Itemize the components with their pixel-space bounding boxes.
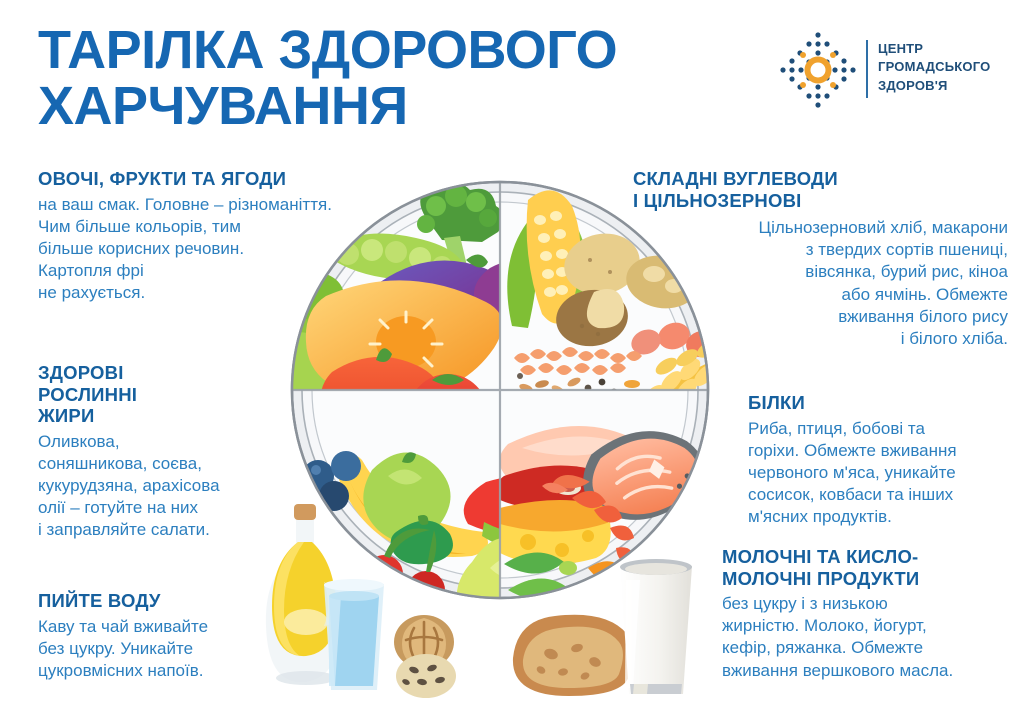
line: вживання білого рису <box>838 307 1008 326</box>
line: або ячмінь. Обмежте <box>841 285 1008 304</box>
line: І ЦІЛЬНОЗЕРНОВІ <box>633 190 801 211</box>
section-proteins-heading: БІЛКИ <box>748 392 1010 414</box>
logo-divider <box>866 40 868 98</box>
line: і заправляйте салати. <box>38 520 210 539</box>
line: жирністю. Молоко, йогурт, <box>722 616 927 635</box>
page-title: ТАРІЛКА ЗДОРОВОГО ХАРЧУВАННЯ <box>38 22 738 134</box>
logo-text-line-3: ЗДОРОВ'Я <box>878 77 990 95</box>
line: без цукру. Уникайте <box>38 639 193 658</box>
line: м'ясних продуктів. <box>748 507 892 526</box>
line: більше корисних речовин. <box>38 239 244 258</box>
line: без цукру і з низькою <box>722 594 888 613</box>
section-drink-water-heading: ПИЙТЕ ВОДУ <box>38 590 288 612</box>
line: Оливкова, <box>38 432 120 451</box>
line: вживання вершкового масла. <box>722 661 953 680</box>
logo-text-line-1: ЦЕНТР <box>878 40 990 58</box>
logo-text: ЦЕНТР ГРОМАДСЬКОГО ЗДОРОВ'Я <box>878 40 990 95</box>
line: Риба, птиця, бобові та <box>748 419 925 438</box>
line: Картопля фрі <box>38 261 144 280</box>
line: олії – готуйте на них <box>38 498 198 517</box>
section-dairy: МОЛОЧНІ ТА КИСЛО- МОЛОЧНІ ПРОДУКТИ без ц… <box>722 546 1012 682</box>
line: Каву та чай вживайте <box>38 617 208 636</box>
section-dairy-heading: МОЛОЧНІ ТА КИСЛО- МОЛОЧНІ ПРОДУКТИ <box>722 546 1012 589</box>
milk-glass-icon <box>612 558 700 700</box>
line: не рахується. <box>38 283 145 302</box>
line: горіхи. Обмежте вживання <box>748 441 957 460</box>
section-proteins-body: Риба, птиця, бобові та горіхи. Обмежте в… <box>748 418 1010 528</box>
section-proteins: БІЛКИ Риба, птиця, бобові та горіхи. Обм… <box>748 392 1010 528</box>
section-vegetables-heading: ОВОЧІ, ФРУКТИ ТА ЯГОДИ <box>38 168 378 190</box>
line: на ваш смак. Головне – різноманіття. <box>38 195 332 214</box>
logo-text-line-2: ГРОМАДСЬКОГО <box>878 58 990 76</box>
walnut-icon <box>380 612 470 700</box>
line: МОЛОЧНІ ТА КИСЛО- <box>722 546 918 567</box>
logo-dot-mandala-icon <box>778 30 858 110</box>
section-vegetables: ОВОЧІ, ФРУКТИ ТА ЯГОДИ на ваш смак. Голо… <box>38 168 378 304</box>
line: РОСЛИННІ <box>38 384 137 405</box>
line: кефір, ряжанка. Обмежте <box>722 638 923 657</box>
line: червоного м'яса, уникайте <box>748 463 956 482</box>
line: ЗДОРОВІ <box>38 362 124 383</box>
line: ЖИРИ <box>38 405 94 426</box>
section-vegetables-body: на ваш смак. Головне – різноманіття. Чим… <box>38 194 378 304</box>
line: соняшникова, соєва, <box>38 454 202 473</box>
line: Цільнозерновий хліб, макарони <box>759 218 1008 237</box>
line: СКЛАДНІ ВУГЛЕВОДИ <box>633 168 838 189</box>
line: кукурудзяна, арахісова <box>38 476 220 495</box>
section-complex-carbs-body: Цільнозерновий хліб, макарони з твердих … <box>633 217 1008 350</box>
logo: ЦЕНТР ГРОМАДСЬКОГО ЗДОРОВ'Я <box>778 28 1008 112</box>
line: вівсянка, бурий рис, кіноа <box>805 262 1008 281</box>
line: Чим більше кольорів, тим <box>38 217 241 236</box>
line: і білого хліба. <box>901 329 1008 348</box>
section-healthy-fats: ЗДОРОВІ РОСЛИННІ ЖИРИ Оливкова, соняшник… <box>38 362 288 541</box>
line: цукровмісних напоїв. <box>38 661 203 680</box>
line: з твердих сортів пшениці, <box>806 240 1008 259</box>
infographic-page: ТАРІЛКА ЗДОРОВОГО ХАРЧУВАННЯ <box>0 0 1024 724</box>
line: МОЛОЧНІ ПРОДУКТИ <box>722 568 919 589</box>
page-title-line-2: ХАРЧУВАННЯ <box>38 78 738 134</box>
section-dairy-body: без цукру і з низькою жирністю. Молоко, … <box>722 593 1012 681</box>
section-drink-water: ПИЙТЕ ВОДУ Каву та чай вживайте без цукр… <box>38 590 288 682</box>
section-healthy-fats-heading: ЗДОРОВІ РОСЛИННІ ЖИРИ <box>38 362 288 427</box>
section-drink-water-body: Каву та чай вживайте без цукру. Уникайте… <box>38 616 288 682</box>
line: сосисок, ковбаси та інших <box>748 485 953 504</box>
section-healthy-fats-body: Оливкова, соняшникова, соєва, кукурудзян… <box>38 431 288 541</box>
section-complex-carbs-heading: СКЛАДНІ ВУГЛЕВОДИ І ЦІЛЬНОЗЕРНОВІ <box>633 168 1008 211</box>
section-complex-carbs: СКЛАДНІ ВУГЛЕВОДИ І ЦІЛЬНОЗЕРНОВІ Цільно… <box>633 168 1008 350</box>
page-title-line-1: ТАРІЛКА ЗДОРОВОГО <box>38 20 617 80</box>
